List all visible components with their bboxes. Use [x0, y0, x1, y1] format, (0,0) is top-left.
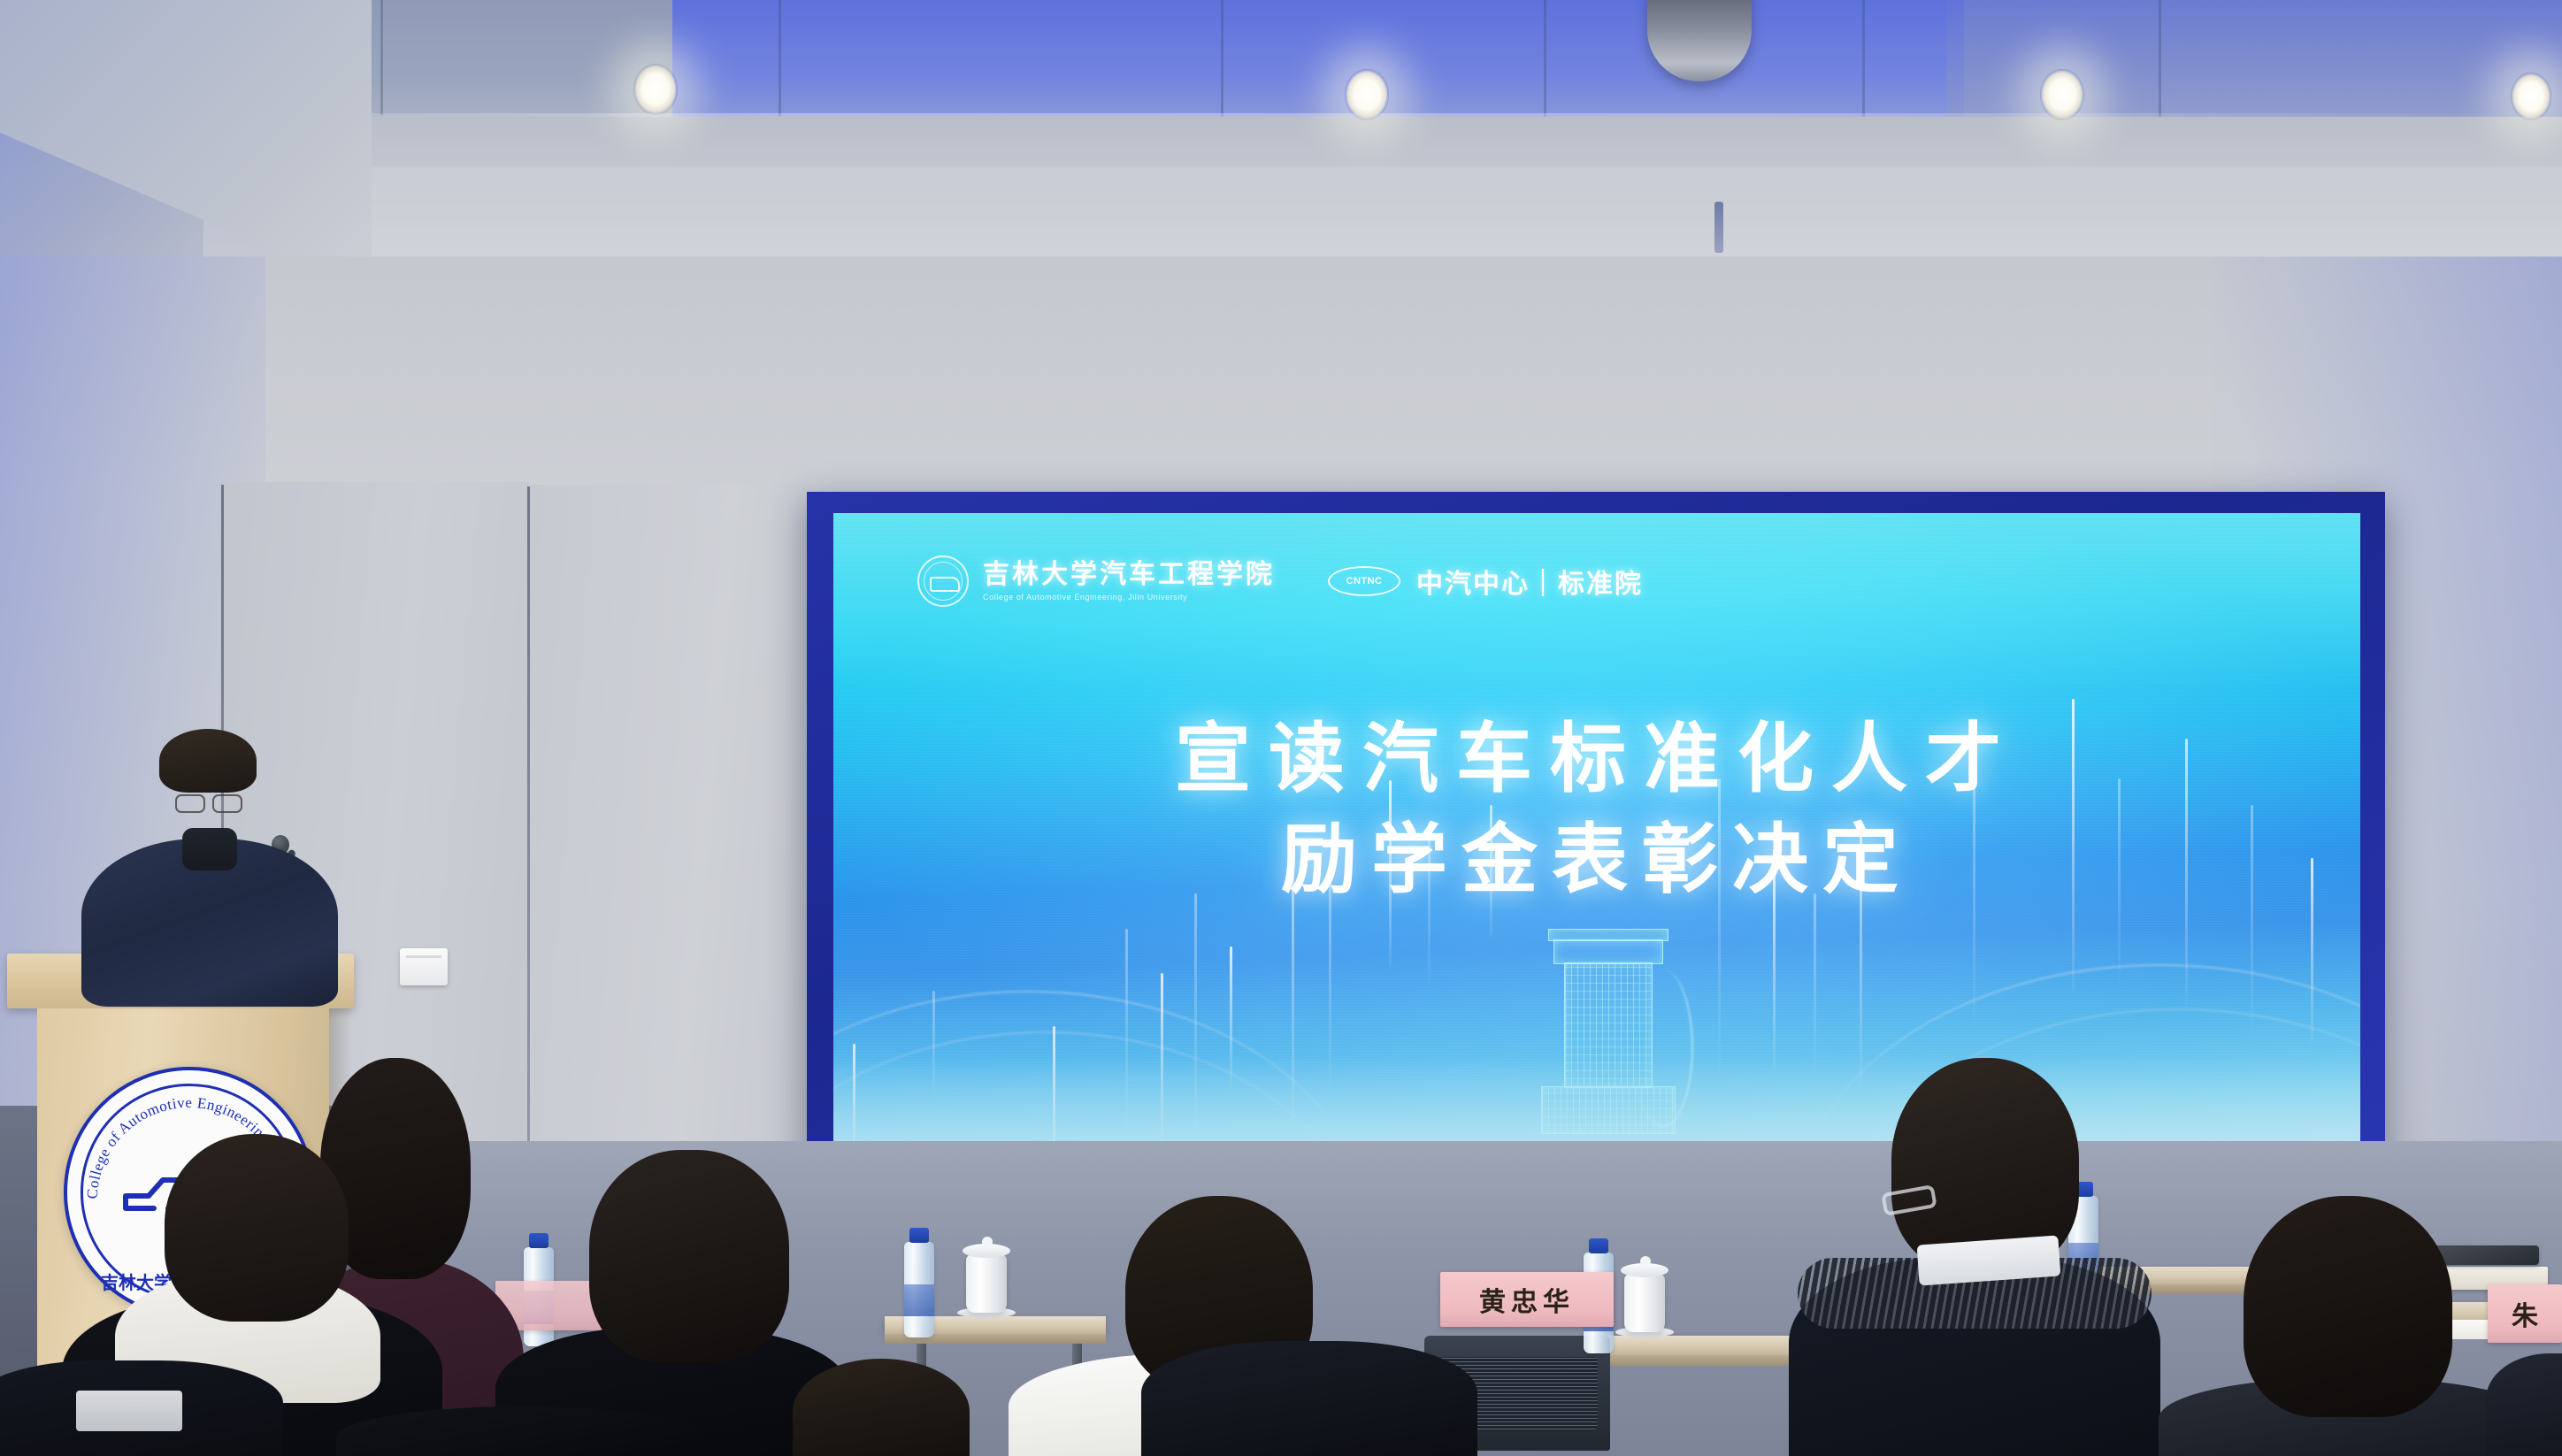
catarc-logo-cn: 中汽中心｜标准院 [1416, 562, 1643, 601]
slide-title-line1: 宣读汽车标准化人才 [833, 709, 2360, 810]
audience-head [165, 1134, 349, 1322]
name-placard: 黄忠华 [1440, 1272, 1614, 1327]
ceiling-seam [380, 0, 383, 115]
led-screen[interactable]: 吉林大学汽车工程学院 College of Automotive Enginee… [833, 513, 2360, 1203]
water-bottle [904, 1242, 934, 1337]
name-placard-text: 朱 [2512, 1294, 2538, 1333]
wall-panel-mid [529, 485, 812, 1184]
slide-title: 宣读汽车标准化人才 励学金表彰决定 [833, 709, 2360, 910]
audience-head [589, 1150, 789, 1362]
slide-title-line2: 励学金表彰决定 [833, 810, 2360, 911]
name-placard: 朱 [2488, 1284, 2562, 1343]
audience-head [2244, 1196, 2452, 1417]
teacup-knob [1640, 1256, 1651, 1267]
bottle-cap [1589, 1238, 1608, 1253]
bottle-cap [529, 1233, 548, 1248]
teacup-knob [982, 1237, 993, 1247]
jlu-logo-cn: 吉林大学汽车工程学院 [983, 562, 1275, 588]
jlu-logo-en: College of Automotive Engineering, Jilin… [983, 593, 1275, 602]
jlu-cae-seal-icon [917, 556, 969, 607]
catarc-mark: CNTNC [1346, 576, 1383, 586]
speaker-glasses-icon [175, 794, 242, 810]
wall-panel-seam [527, 487, 530, 1185]
bottle-label [904, 1284, 934, 1317]
downlight-icon [1345, 69, 1389, 120]
sprinkler-icon [1714, 202, 1723, 253]
catarc-oval-icon: CNTNC [1328, 566, 1400, 596]
downlight-icon [2511, 73, 2551, 120]
photo-scene: 吉林大学汽车工程学院 College of Automotive Enginee… [0, 0, 2562, 1456]
jacket-logo [76, 1391, 182, 1431]
audience-head [793, 1359, 970, 1456]
bottle-cap [909, 1228, 929, 1243]
speaker-hair [159, 729, 257, 793]
name-placard-text: 黄忠华 [1479, 1280, 1575, 1319]
lidded-teacup [966, 1254, 1007, 1313]
audience-torso [1141, 1341, 1477, 1456]
downlight-icon [2040, 69, 2084, 120]
wall-control-panel-icon[interactable] [400, 948, 448, 985]
downlight-icon [633, 64, 678, 115]
slide-logo-row: 吉林大学汽车工程学院 College of Automotive Enginee… [917, 556, 1643, 607]
lidded-teacup [1624, 1274, 1665, 1332]
